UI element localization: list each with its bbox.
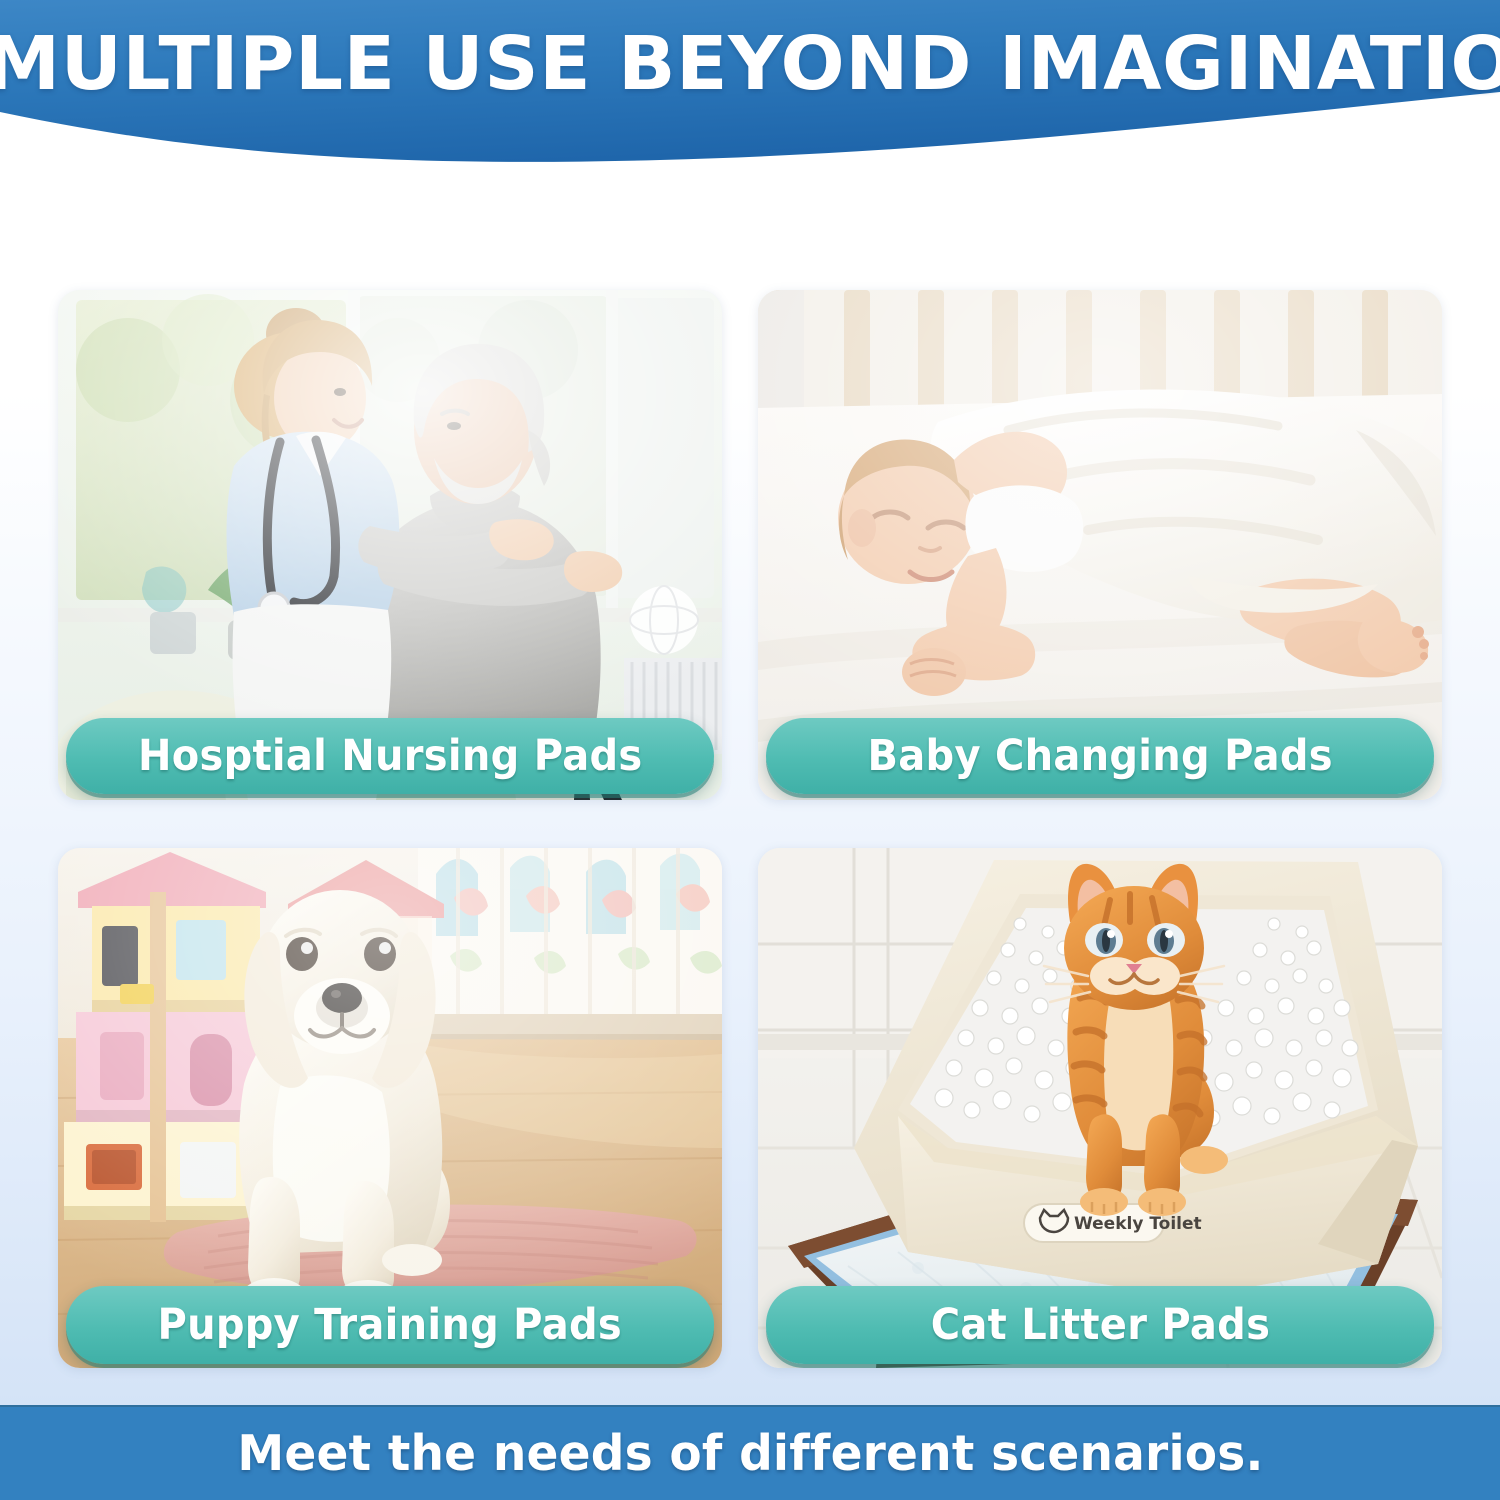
svg-text:Weekly Toilet: Weekly Toilet: [1074, 1214, 1202, 1234]
footer-banner: Meet the needs of different scenarios.: [0, 1405, 1500, 1500]
badge-label: Baby Changing Pads: [867, 731, 1332, 781]
footer-tagline: Meet the needs of different scenarios.: [237, 1425, 1263, 1482]
card-hospital-nursing-pads[interactable]: Hosptial Nursing Pads: [58, 290, 722, 800]
card-cat-litter-pads[interactable]: Weekly Toilet: [758, 848, 1442, 1368]
infographic-page: MULTIPLE USE BEYOND IMAGINATION: [0, 0, 1500, 1500]
badge-puppy-training-pads: Puppy Training Pads: [66, 1286, 714, 1364]
header-banner: MULTIPLE USE BEYOND IMAGINATION: [0, 0, 1500, 196]
badge-label: Cat Litter Pads: [930, 1300, 1269, 1350]
badge-label: Hosptial Nursing Pads: [138, 731, 643, 781]
use-case-grid: Hosptial Nursing Pads: [58, 290, 1442, 1368]
page-title: MULTIPLE USE BEYOND IMAGINATION: [0, 24, 1500, 104]
badge-cat-litter-pads: Cat Litter Pads: [766, 1286, 1434, 1364]
badge-hospital-nursing-pads: Hosptial Nursing Pads: [66, 718, 714, 794]
card-puppy-training-pads[interactable]: Puppy Training Pads: [58, 848, 722, 1368]
badge-label: Puppy Training Pads: [158, 1300, 622, 1350]
badge-baby-changing-pads: Baby Changing Pads: [766, 718, 1434, 794]
card-baby-changing-pads[interactable]: Baby Changing Pads: [758, 290, 1442, 800]
